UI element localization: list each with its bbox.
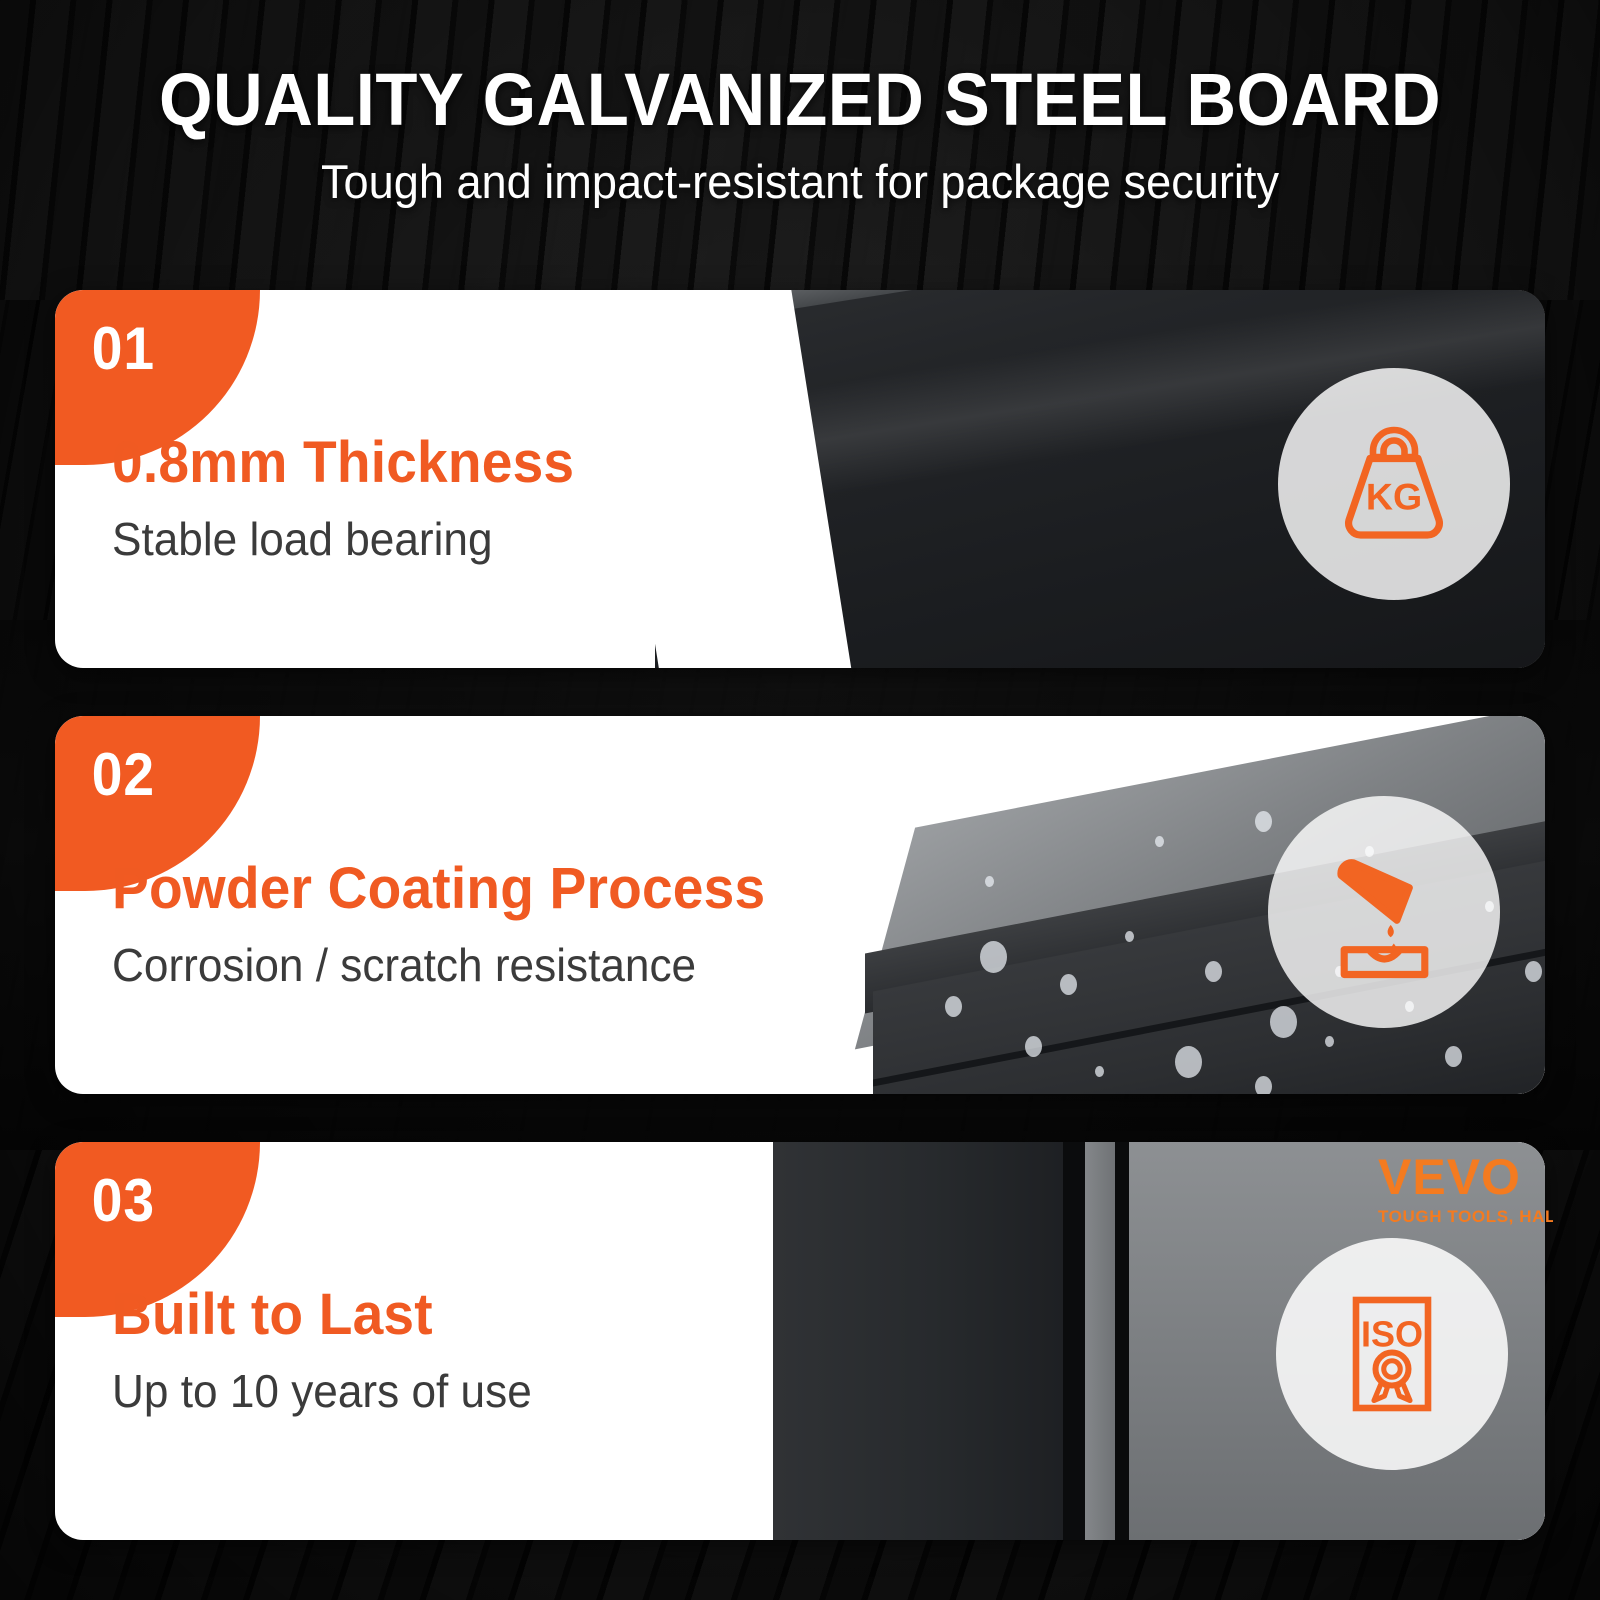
card-1-title: 0.8mm Thickness: [112, 430, 574, 496]
powder-coating-glyph: [1307, 835, 1462, 990]
kg-weight-glyph: KG: [1319, 409, 1469, 559]
svg-text:KG: KG: [1366, 476, 1422, 518]
water-droplet: [985, 876, 994, 887]
vevor-tagline: TOUGH TOOLS, HALF: [1378, 1207, 1553, 1227]
card-1-text-block: 0.8mm Thickness Stable load bearing: [112, 430, 599, 567]
card-1-number: 01: [92, 314, 155, 383]
water-droplet: [1155, 836, 1164, 847]
water-droplet: [1060, 974, 1077, 995]
water-droplet: [1255, 811, 1272, 832]
card-2-subtitle: Corrosion / scratch resistance: [112, 938, 772, 993]
page-title: QUALITY GALVANIZED STEEL BOARD: [56, 60, 1544, 140]
vevor-logo: VEVO TOUGH TOOLS, HALF: [1378, 1152, 1553, 1227]
water-droplet: [945, 996, 962, 1017]
card-1-subtitle: Stable load bearing: [112, 512, 579, 567]
card-3-title: Built to Last: [112, 1282, 527, 1348]
water-droplet: [1325, 1036, 1334, 1047]
iso-certificate-glyph: ISO: [1317, 1279, 1467, 1429]
water-droplet: [1175, 1046, 1202, 1078]
dark-panel: [773, 1142, 1063, 1540]
water-droplet: [980, 941, 1007, 973]
card-2-number: 02: [92, 740, 155, 809]
water-droplet: [1125, 931, 1134, 942]
card-3-number: 03: [92, 1166, 155, 1235]
card-3-subtitle: Up to 10 years of use: [112, 1364, 532, 1419]
panel-gap-secondary: [1115, 1142, 1129, 1540]
water-droplet: [1255, 1076, 1272, 1094]
water-droplet: [1205, 961, 1222, 982]
vevor-wordmark: VEVO: [1378, 1152, 1553, 1202]
water-droplet: [1095, 1066, 1104, 1077]
card-2-title: Powder Coating Process: [112, 856, 765, 922]
water-droplet: [1025, 1036, 1042, 1057]
svg-text:ISO: ISO: [1361, 1314, 1423, 1355]
page-subtitle: Tough and impact-resistant for package s…: [32, 154, 1568, 210]
card-3-text-block: Built to Last Up to 10 years of use: [112, 1282, 549, 1419]
water-droplet: [1270, 1006, 1297, 1038]
water-droplet: [1445, 1046, 1462, 1067]
header: QUALITY GALVANIZED STEEL BOARD Tough and…: [0, 60, 1600, 210]
panel-gap: [1063, 1142, 1085, 1540]
water-droplet: [1525, 961, 1542, 982]
powder-coating-icon: [1268, 796, 1500, 1028]
kg-weight-icon: KG: [1278, 368, 1510, 600]
card-2-text-block: Powder Coating Process Corrosion / scrat…: [112, 856, 800, 993]
panel-strip: [1085, 1142, 1115, 1540]
iso-certificate-icon: ISO: [1276, 1238, 1508, 1470]
infographic-page: QUALITY GALVANIZED STEEL BOARD Tough and…: [0, 0, 1600, 1600]
